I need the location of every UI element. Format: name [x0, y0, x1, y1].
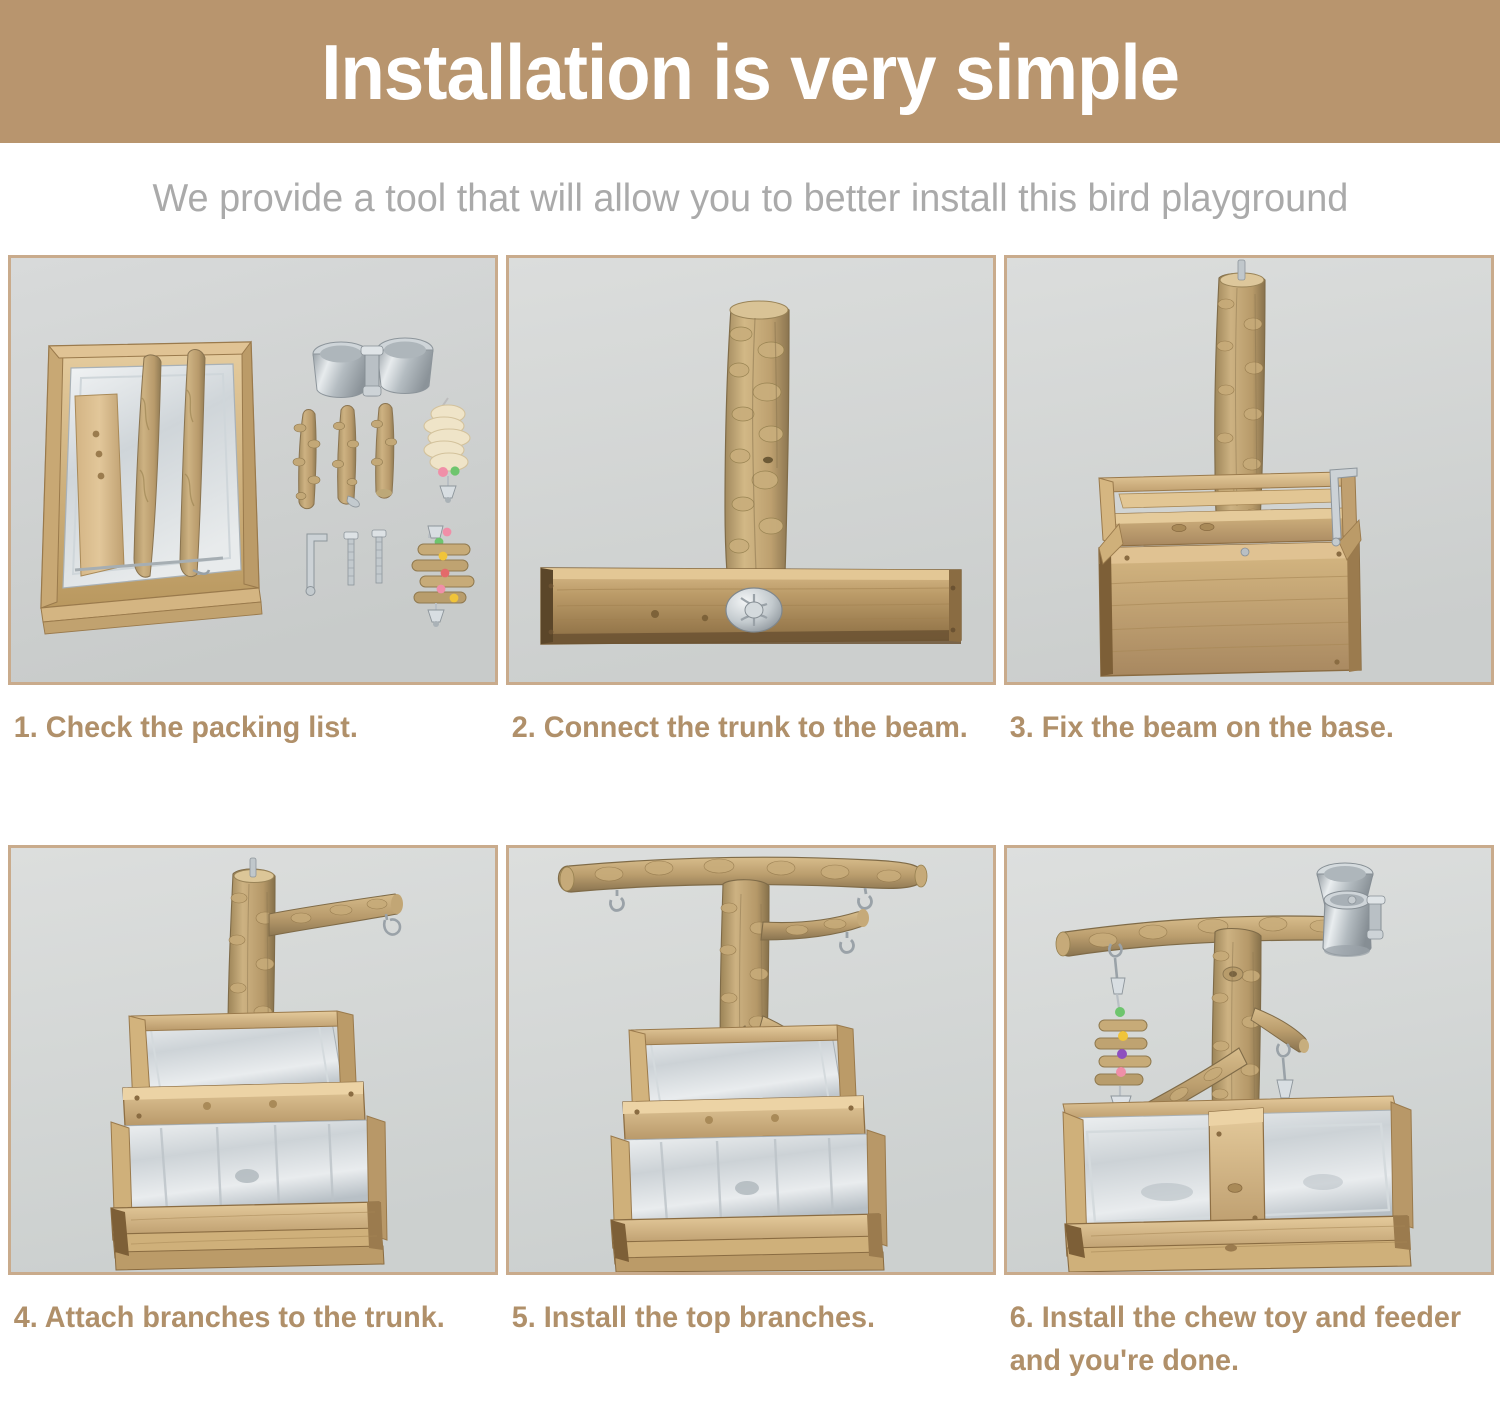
- photo-beam-on-base: [1004, 255, 1494, 685]
- step-cell-5: 5. Install the top branches.: [506, 845, 996, 1395]
- step-caption-4: 4. Attach branches to the trunk.: [8, 1275, 478, 1395]
- row-spacer: [0, 805, 1500, 845]
- page-subtitle: We provide a tool that will allow you to…: [152, 177, 1348, 221]
- step-cell-2: 2. Connect the trunk to the beam.: [506, 255, 996, 805]
- header-band: Installation is very simple: [0, 0, 1500, 143]
- step-caption-5: 5. Install the top branches.: [506, 1275, 976, 1395]
- steps-grid-row-2: 4. Attach branches to the trunk.: [0, 845, 1500, 1395]
- subtitle-container: We provide a tool that will allow you to…: [0, 143, 1500, 255]
- step-cell-3: 3. Fix the beam on the base.: [1004, 255, 1494, 805]
- photo-top-branches: [506, 845, 996, 1275]
- step-cell-4: 4. Attach branches to the trunk.: [8, 845, 498, 1395]
- photo-trunk-to-beam: [506, 255, 996, 685]
- photo-attach-branches: [8, 845, 498, 1275]
- page-title: Installation is very simple: [321, 33, 1179, 111]
- step-caption-6: 6. Install the chew toy and feeder and y…: [1004, 1275, 1474, 1395]
- step-caption-3: 3. Fix the beam on the base.: [1004, 685, 1474, 805]
- step-caption-2: 2. Connect the trunk to the beam.: [506, 685, 976, 805]
- steps-grid-row-1: 1. Check the packing list.: [0, 255, 1500, 805]
- photo-packing-list: [8, 255, 498, 685]
- step-cell-1: 1. Check the packing list.: [8, 255, 498, 805]
- step-caption-1: 1. Check the packing list.: [8, 685, 478, 805]
- photo-chew-toy-feeder: [1004, 845, 1494, 1275]
- step-cell-6: 6. Install the chew toy and feeder and y…: [1004, 845, 1494, 1395]
